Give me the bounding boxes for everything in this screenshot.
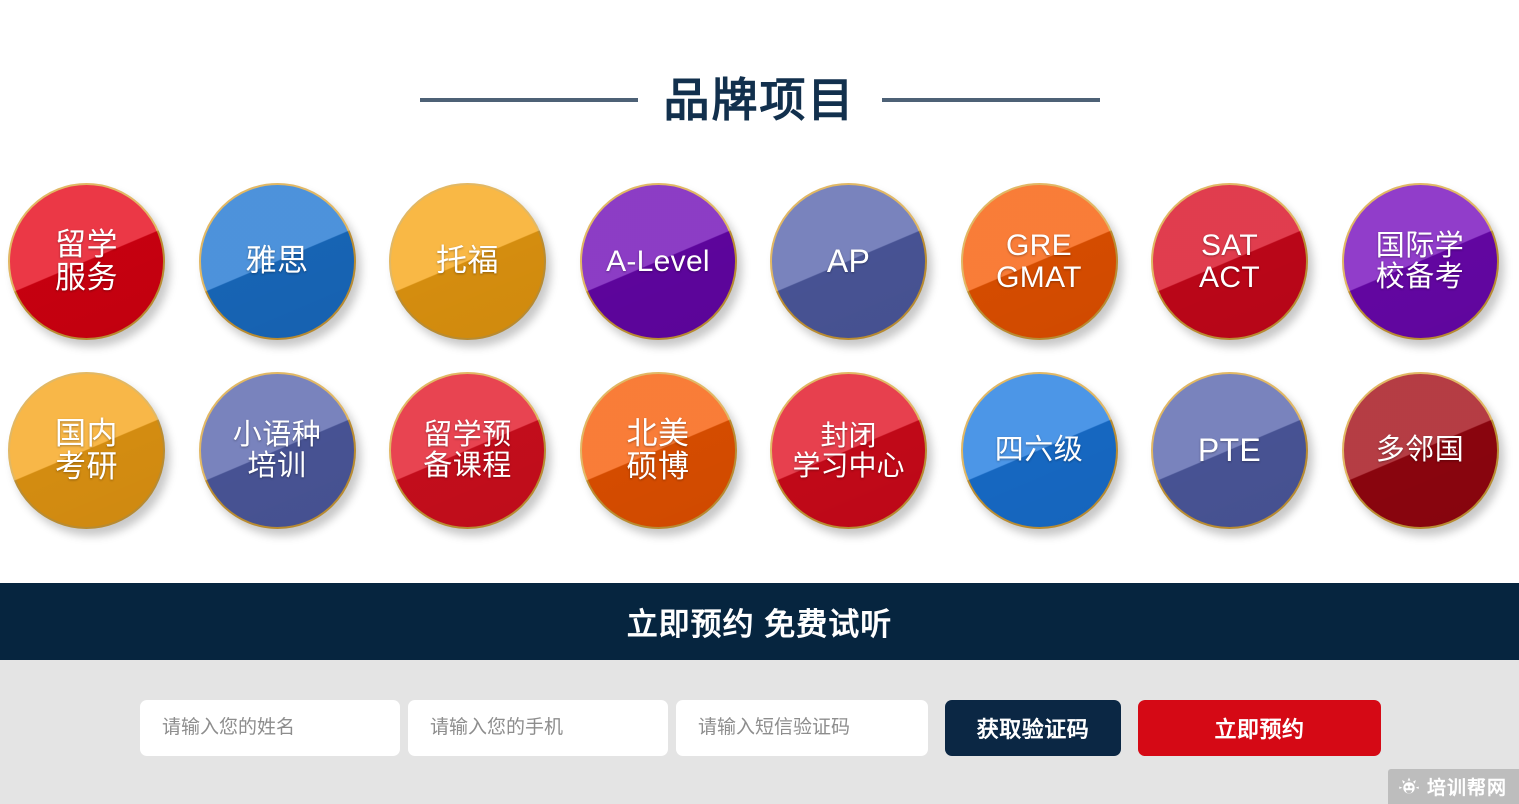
signup-form-strip: 获取验证码 立即预约	[0, 660, 1519, 804]
program-badge[interactable]: 留学预 备课程	[389, 372, 546, 529]
badge-row-2: 国内 考研小语种 培训留学预 备课程北美 硕博封闭 学习中心四六级PTE多邻国	[0, 372, 1519, 529]
badge-row-1: 留学 服务雅思托福A-LevelAPGRE GMATSAT ACT国际学 校备考	[0, 183, 1519, 340]
sms-code-input[interactable]	[676, 700, 928, 756]
watermark-label: 培训帮网	[1427, 773, 1507, 800]
program-badge[interactable]: SAT ACT	[1151, 183, 1308, 340]
program-badge[interactable]: 留学 服务	[8, 183, 165, 340]
program-badge[interactable]: A-Level	[580, 183, 737, 340]
phone-input[interactable]	[408, 700, 668, 756]
sun-face-icon	[1398, 776, 1420, 798]
program-badge-label: 北美 硕博	[625, 418, 692, 484]
program-badge-label: 雅思	[244, 245, 311, 278]
program-badge[interactable]: 国际学 校备考	[1342, 183, 1499, 340]
name-input[interactable]	[140, 700, 400, 756]
program-badge-label: 留学 服务	[53, 229, 120, 295]
program-badge-label: AP	[825, 245, 872, 279]
program-badge[interactable]: AP	[770, 183, 927, 340]
page-title: 品牌项目	[664, 77, 856, 123]
heading-rule-left	[420, 98, 638, 102]
signup-form: 获取验证码 立即预约	[140, 700, 1381, 756]
program-badge-label: 封闭 学习中心	[790, 421, 906, 480]
program-badge-label: A-Level	[604, 246, 712, 278]
program-badge-label: SAT ACT	[1197, 230, 1262, 294]
program-badge[interactable]: 多邻国	[1342, 372, 1499, 529]
get-code-button[interactable]: 获取验证码	[945, 700, 1121, 756]
brand-program-grid: 留学 服务雅思托福A-LevelAPGRE GMATSAT ACT国际学 校备考…	[0, 183, 1519, 561]
program-badge-label: 多邻国	[1374, 435, 1467, 466]
site-watermark: 培训帮网	[1388, 769, 1519, 804]
program-badge-label: 国内 考研	[53, 418, 120, 484]
program-badge[interactable]: 北美 硕博	[580, 372, 737, 529]
cta-banner: 立即预约 免费试听	[0, 583, 1519, 660]
program-badge[interactable]: PTE	[1151, 372, 1308, 529]
program-badge-label: 小语种 培训	[231, 420, 324, 481]
program-badge-label: 国际学 校备考	[1374, 231, 1467, 292]
program-badge[interactable]: 托福	[389, 183, 546, 340]
program-badge-label: PTE	[1196, 434, 1263, 468]
program-badge-label: 留学预 备课程	[421, 420, 514, 481]
program-badge-label: 托福	[434, 245, 501, 278]
program-badge-label: GRE GMAT	[994, 230, 1084, 294]
program-badge[interactable]: 四六级	[961, 372, 1118, 529]
program-badge[interactable]: 小语种 培训	[199, 372, 356, 529]
heading-rule-right	[882, 98, 1100, 102]
submit-booking-button[interactable]: 立即预约	[1138, 700, 1381, 756]
program-badge[interactable]: GRE GMAT	[961, 183, 1118, 340]
cta-title: 立即预约 免费试听	[627, 599, 893, 644]
program-badge[interactable]: 封闭 学习中心	[770, 372, 927, 529]
program-badge[interactable]: 雅思	[199, 183, 356, 340]
program-badge-label: 四六级	[993, 435, 1086, 466]
section-heading: 品牌项目	[0, 62, 1519, 138]
program-badge[interactable]: 国内 考研	[8, 372, 165, 529]
